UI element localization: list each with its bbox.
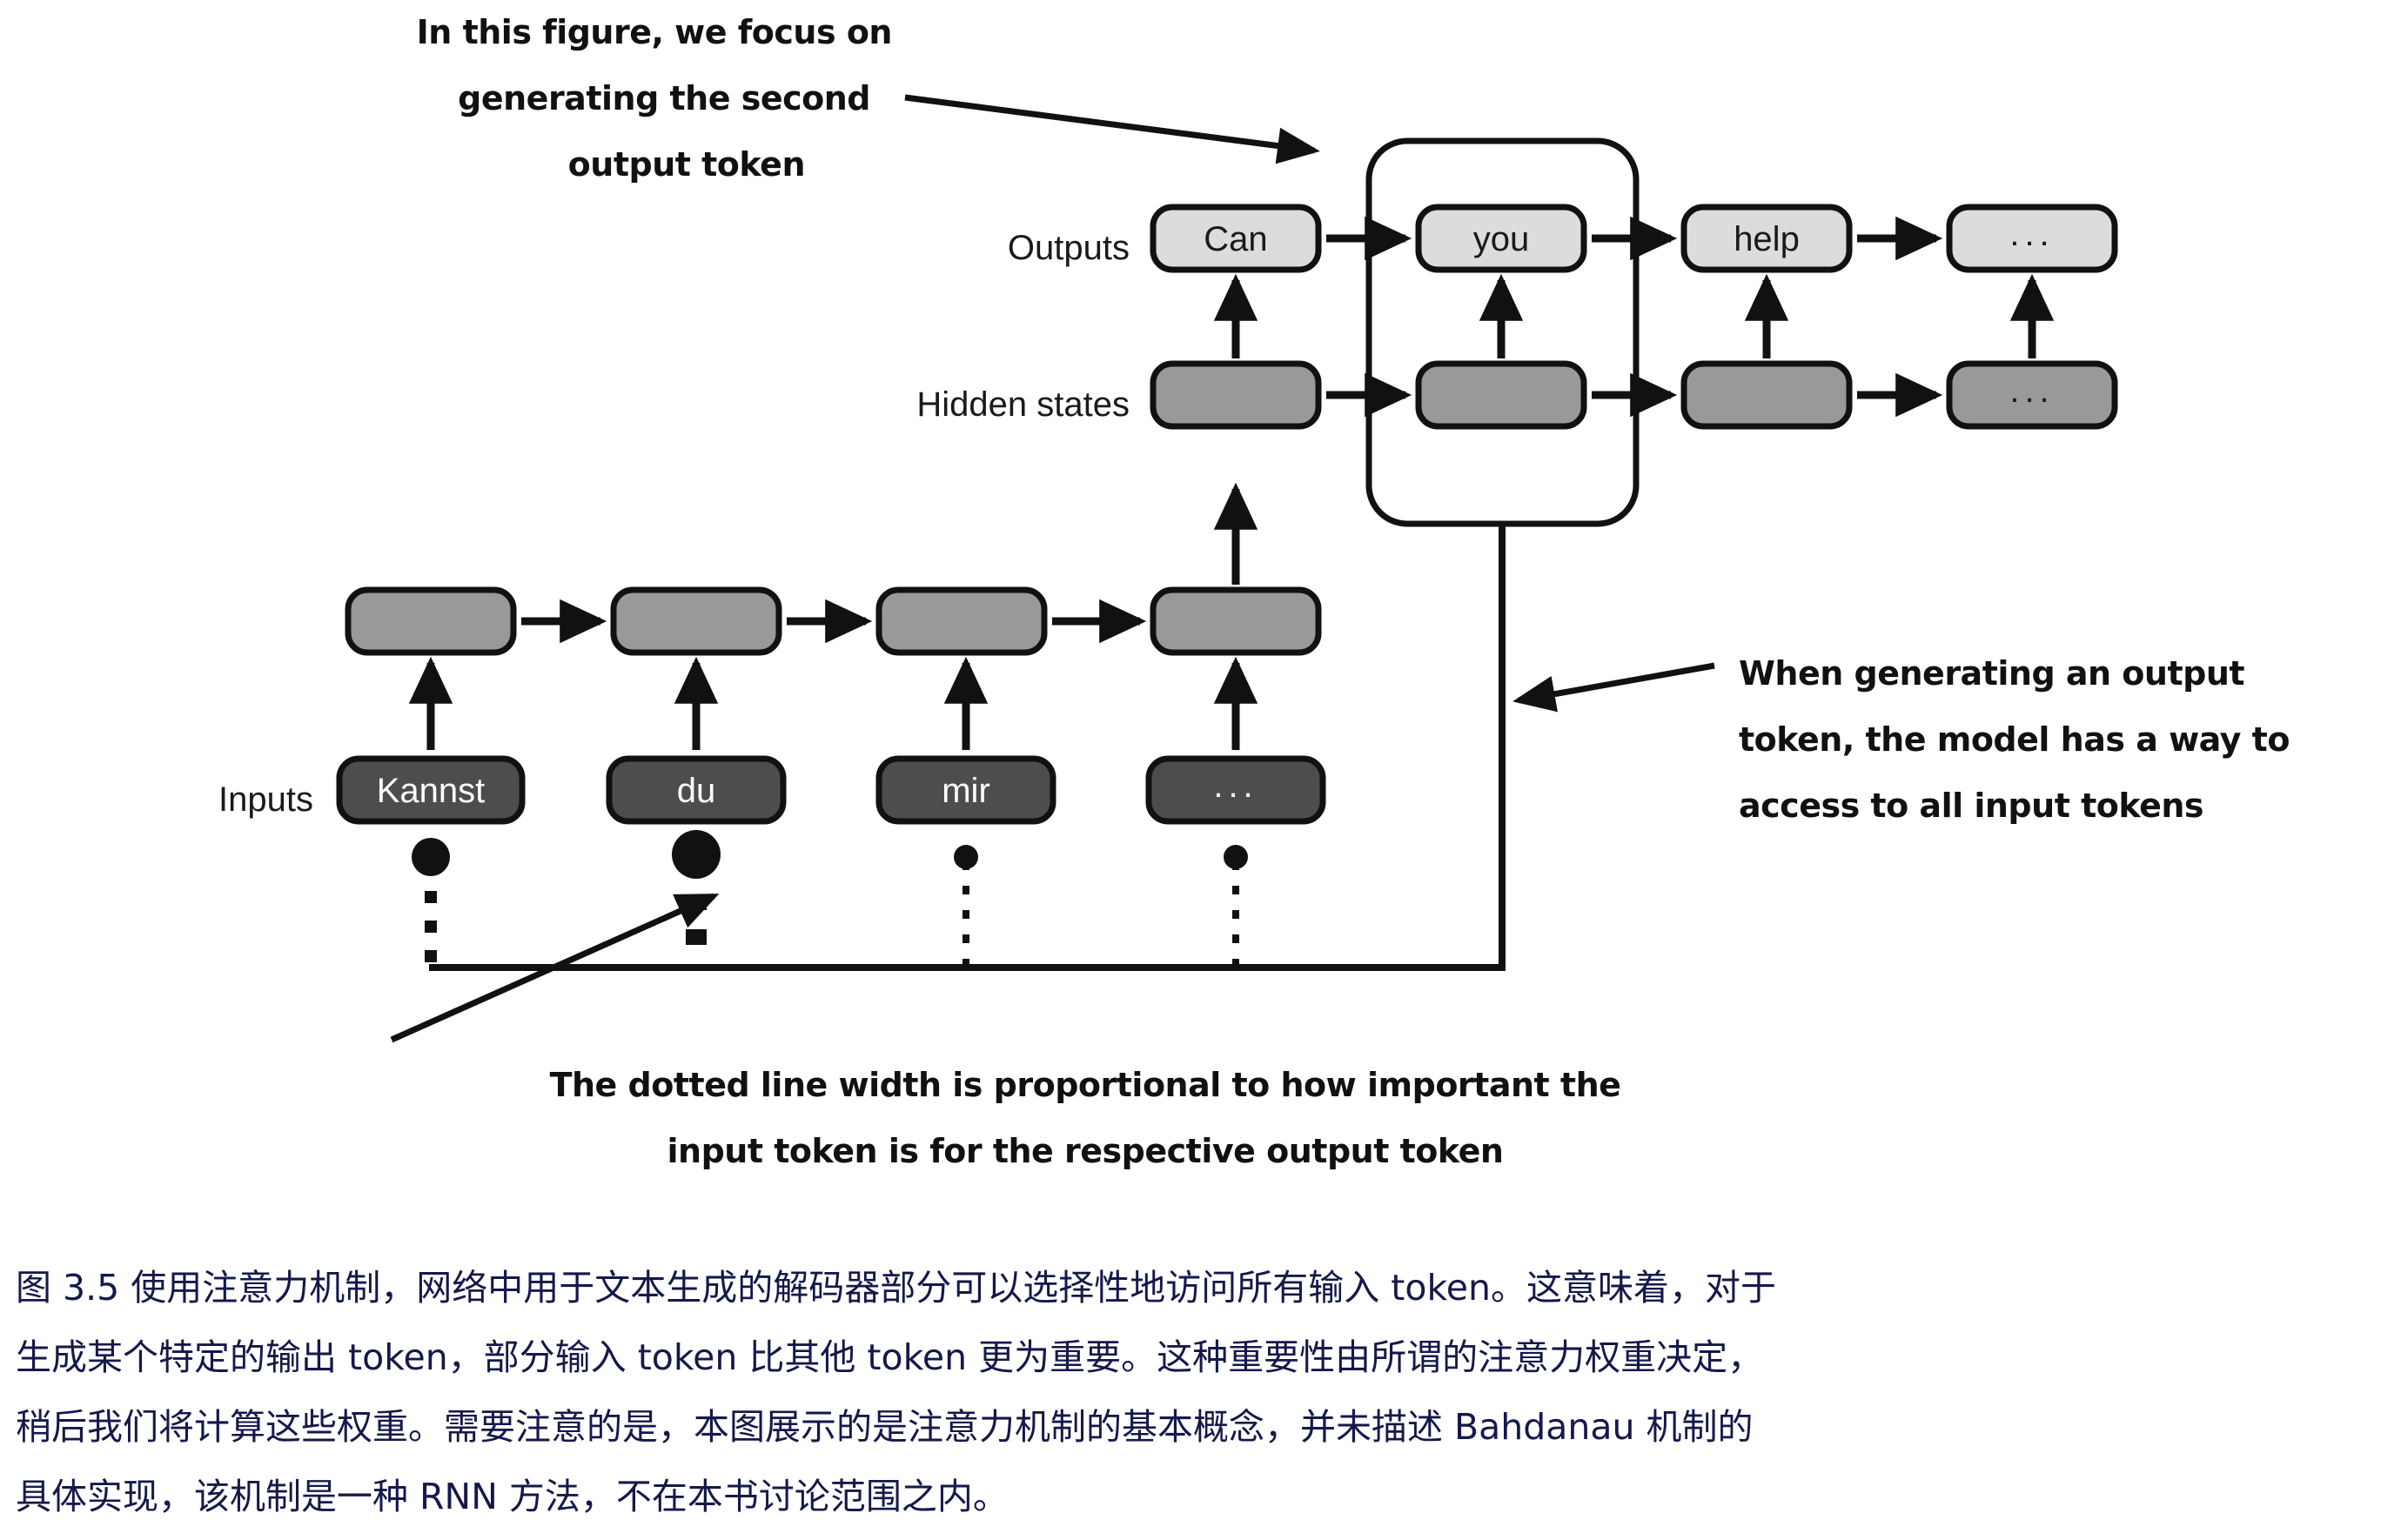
attention-diagram: In this figure, we focus on generating t…	[0, 0, 2381, 1235]
caption-line-1: 图 3.5 使用注意力机制，网络中用于文本生成的解码器部分可以选择性地访问所有输…	[16, 1253, 2365, 1322]
annotation-right-arrow	[1519, 666, 1714, 700]
decoder-hidden-box-1[interactable]	[1419, 364, 1584, 426]
annotation-top-left: In this figure, we focus on generating t…	[417, 13, 1314, 184]
annotation-right: When generating an output token, the mod…	[1519, 654, 2290, 825]
input-box-2-label: mir	[942, 772, 990, 810]
decoder-hidden-box-2-shape[interactable]	[1684, 364, 1849, 426]
annotation-top-left-line-3: output token	[568, 145, 805, 184]
annotation-right-line-3: access to all input tokens	[1739, 787, 2203, 825]
annotation-right-line-2: token, the model has a way to	[1739, 720, 2290, 759]
output-box-2[interactable]: help	[1684, 207, 1849, 270]
output-box-1-label: you	[1473, 220, 1530, 258]
decoder-hidden-box-2[interactable]	[1684, 364, 1849, 426]
row-label-inputs: Inputs	[218, 780, 313, 819]
decoder-hidden-box-0[interactable]	[1153, 364, 1318, 426]
output-box-3[interactable]: ...	[1949, 207, 2115, 270]
encoder-hidden-box-2[interactable]	[879, 590, 1044, 653]
annotation-right-line-1: When generating an output	[1739, 654, 2244, 693]
encoder-hidden-box-0-shape[interactable]	[348, 590, 513, 653]
encoder-hidden-box-3[interactable]	[1153, 590, 1318, 653]
input-box-0-label: Kannst	[377, 772, 486, 810]
decoder-hidden-box-0-shape[interactable]	[1153, 364, 1318, 426]
caption-line-4: 具体实现，该机制是一种 RNN 方法，不在本书讨论范围之内。	[16, 1462, 2365, 1531]
row-label-hidden-states: Hidden states	[916, 385, 1130, 424]
output-box-1[interactable]: you	[1419, 207, 1584, 270]
figure-area: In this figure, we focus on generating t…	[0, 0, 2381, 1235]
encoder-hidden-box-2-shape[interactable]	[879, 590, 1044, 653]
annotation-bottom-line-2: input token is for the respective output…	[667, 1132, 1504, 1170]
output-box-0-label: Can	[1204, 220, 1267, 258]
annotation-top-left-line-2: generating the second	[458, 79, 870, 117]
inputs-row: Kannst du mir ...	[339, 663, 1323, 821]
decoder-hidden-box-1-shape[interactable]	[1419, 364, 1584, 426]
input-box-3-label: ...	[1213, 767, 1258, 805]
decoder-hidden-box-3[interactable]: ...	[1949, 364, 2115, 426]
input-box-3[interactable]: ...	[1149, 759, 1323, 821]
annotation-top-left-arrow	[905, 97, 1314, 151]
input-box-1[interactable]: du	[609, 759, 783, 821]
input-box-2[interactable]: mir	[879, 759, 1053, 821]
encoder-hidden-states-row	[348, 590, 1318, 653]
caption-line-3: 稍后我们将计算这些权重。需要注意的是，本图展示的是注意力机制的基本概念，并未描述…	[16, 1392, 2365, 1462]
encoder-hidden-box-3-shape[interactable]	[1153, 590, 1318, 653]
annotation-top-left-line-1: In this figure, we focus on	[417, 13, 892, 51]
caption-line-2: 生成某个特定的输出 token，部分输入 token 比其他 token 更为重…	[16, 1322, 2365, 1392]
figure-caption: 图 3.5 使用注意力机制，网络中用于文本生成的解码器部分可以选择性地访问所有输…	[16, 1253, 2365, 1531]
encoder-hidden-box-1-shape[interactable]	[614, 590, 779, 653]
encoder-hidden-box-0[interactable]	[348, 590, 513, 653]
decoder-hidden-box-3-label: ...	[2009, 372, 2054, 410]
annotation-bottom: The dotted line width is proportional to…	[392, 896, 1620, 1170]
input-box-1-label: du	[677, 772, 716, 810]
output-box-0[interactable]: Can	[1153, 207, 1318, 270]
output-box-2-label: help	[1734, 220, 1800, 258]
encoder-hidden-box-1[interactable]	[614, 590, 779, 653]
output-box-3-label: ...	[2009, 215, 2054, 253]
row-label-outputs: Outputs	[1008, 229, 1130, 267]
input-box-0[interactable]: Kannst	[339, 759, 522, 821]
annotation-bottom-line-1: The dotted line width is proportional to…	[550, 1066, 1621, 1104]
